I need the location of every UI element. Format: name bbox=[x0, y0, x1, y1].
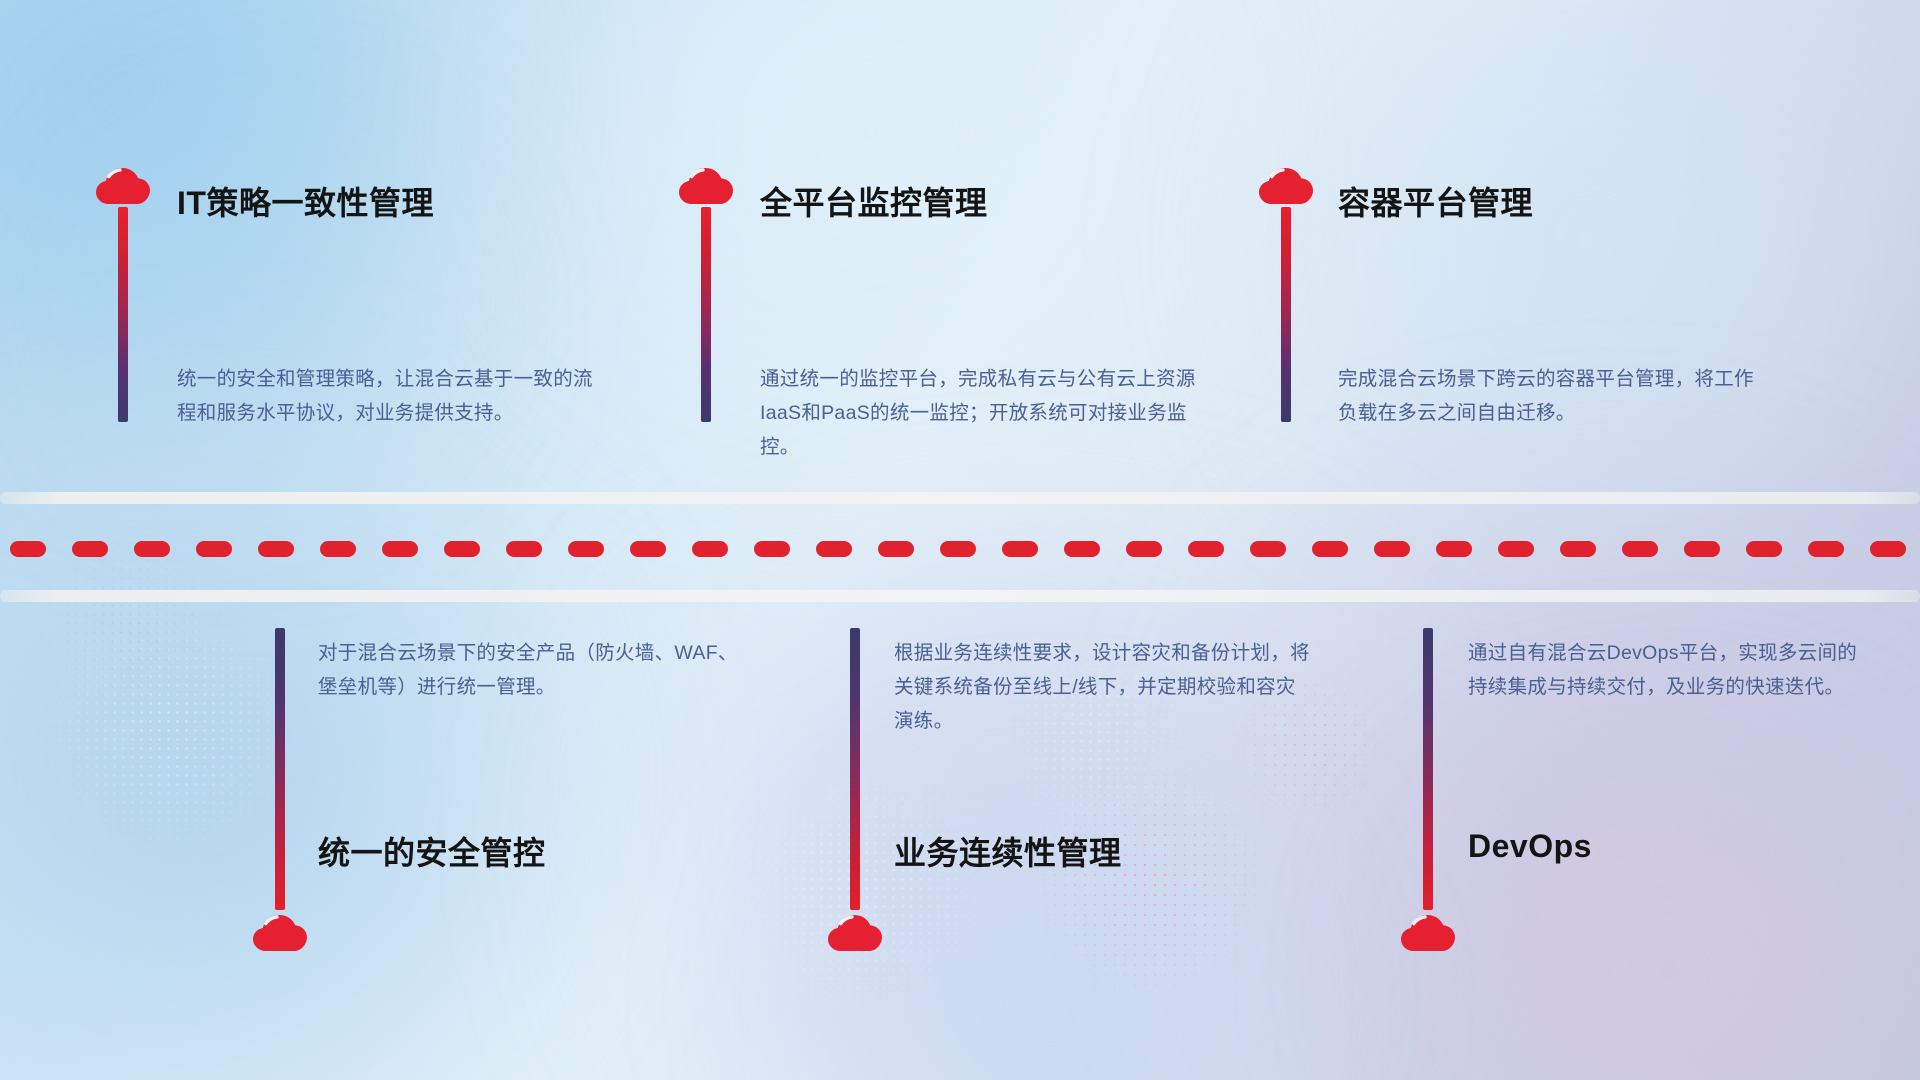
road-dash bbox=[382, 541, 418, 557]
card-title-2: 全平台监控管理 bbox=[760, 178, 988, 224]
road-dash bbox=[1002, 541, 1038, 557]
pin-stem bbox=[850, 628, 860, 910]
card-title-1: IT策略一致性管理 bbox=[177, 178, 434, 224]
cloud-pin-marker-3 bbox=[1258, 163, 1314, 422]
road-dash bbox=[134, 541, 170, 557]
cloud-pin-marker-5 bbox=[827, 628, 883, 954]
pin-stem bbox=[1281, 207, 1291, 422]
road-dash bbox=[692, 541, 728, 557]
card-description-2: 通过统一的监控平台，完成私有云与公有云上资源IaaS和PaaS的统一监控；开放系… bbox=[760, 362, 1198, 464]
card-description-5: 根据业务连续性要求，设计容灾和备份计划，将关键系统备份至线上/线下，并定期校验和… bbox=[894, 636, 1314, 738]
cloud-pin-icon bbox=[252, 910, 308, 954]
card-description-1: 统一的安全和管理策略，让混合云基于一致的流程和服务水平协议，对业务提供支持。 bbox=[177, 362, 609, 430]
road-dash bbox=[1188, 541, 1224, 557]
road-dash bbox=[1064, 541, 1100, 557]
road-dash bbox=[630, 541, 666, 557]
road-dash bbox=[506, 541, 542, 557]
road-dash bbox=[1746, 541, 1782, 557]
card-description-6: 通过自有混合云DevOps平台，实现多云间的持续集成与持续交付，及业务的快速迭代… bbox=[1468, 636, 1872, 704]
road-dash bbox=[878, 541, 914, 557]
road-line-lower bbox=[0, 590, 1920, 602]
cloud-pin-icon bbox=[678, 163, 734, 207]
cloud-pin-marker-1 bbox=[95, 163, 151, 422]
road-dash bbox=[1560, 541, 1596, 557]
cloud-pin-icon bbox=[1258, 163, 1314, 207]
road-dash bbox=[444, 541, 480, 557]
cloud-pin-marker-2 bbox=[678, 163, 734, 422]
card-title-5: 业务连续性管理 bbox=[894, 828, 1122, 874]
road-dash bbox=[1870, 541, 1906, 557]
road-dash bbox=[1250, 541, 1286, 557]
cloud-pin-icon bbox=[1400, 910, 1456, 954]
pin-stem bbox=[118, 207, 128, 422]
pin-stem bbox=[701, 207, 711, 422]
card-description-4: 对于混合云场景下的安全产品（防火墙、WAF、堡垒机等）进行统一管理。 bbox=[318, 636, 738, 704]
road-dash bbox=[1374, 541, 1410, 557]
road-dash bbox=[258, 541, 294, 557]
cloud-pin-marker-4 bbox=[252, 628, 308, 954]
road-dash bbox=[1622, 541, 1658, 557]
cloud-pin-icon bbox=[827, 910, 883, 954]
road-dash bbox=[10, 541, 46, 557]
infographic-canvas: IT策略一致性管理 统一的安全和管理策略，让混合云基于一致的流程和服务水平协议，… bbox=[0, 0, 1920, 1080]
road-dash bbox=[72, 541, 108, 557]
road-dash bbox=[1808, 541, 1844, 557]
road-dash bbox=[1436, 541, 1472, 557]
road-dash bbox=[568, 541, 604, 557]
pin-stem bbox=[275, 628, 285, 910]
road-dash bbox=[1126, 541, 1162, 557]
card-title-4: 统一的安全管控 bbox=[318, 828, 546, 874]
road-dash bbox=[1498, 541, 1534, 557]
cloud-pin-marker-6 bbox=[1400, 628, 1456, 954]
cloud-pin-icon bbox=[95, 163, 151, 207]
road-dash bbox=[1312, 541, 1348, 557]
card-title-6: DevOps bbox=[1468, 828, 1592, 865]
card-title-3: 容器平台管理 bbox=[1338, 178, 1533, 224]
road-dash bbox=[940, 541, 976, 557]
road-line-upper bbox=[0, 492, 1920, 504]
road-dash bbox=[816, 541, 852, 557]
road-dash bbox=[754, 541, 790, 557]
card-description-3: 完成混合云场景下跨云的容器平台管理，将工作负载在多云之间自由迁移。 bbox=[1338, 362, 1758, 430]
road-dash bbox=[196, 541, 232, 557]
road-dash bbox=[320, 541, 356, 557]
road-dash bbox=[1684, 541, 1720, 557]
pin-stem bbox=[1423, 628, 1433, 910]
road-dashed-centerline bbox=[0, 540, 1920, 558]
